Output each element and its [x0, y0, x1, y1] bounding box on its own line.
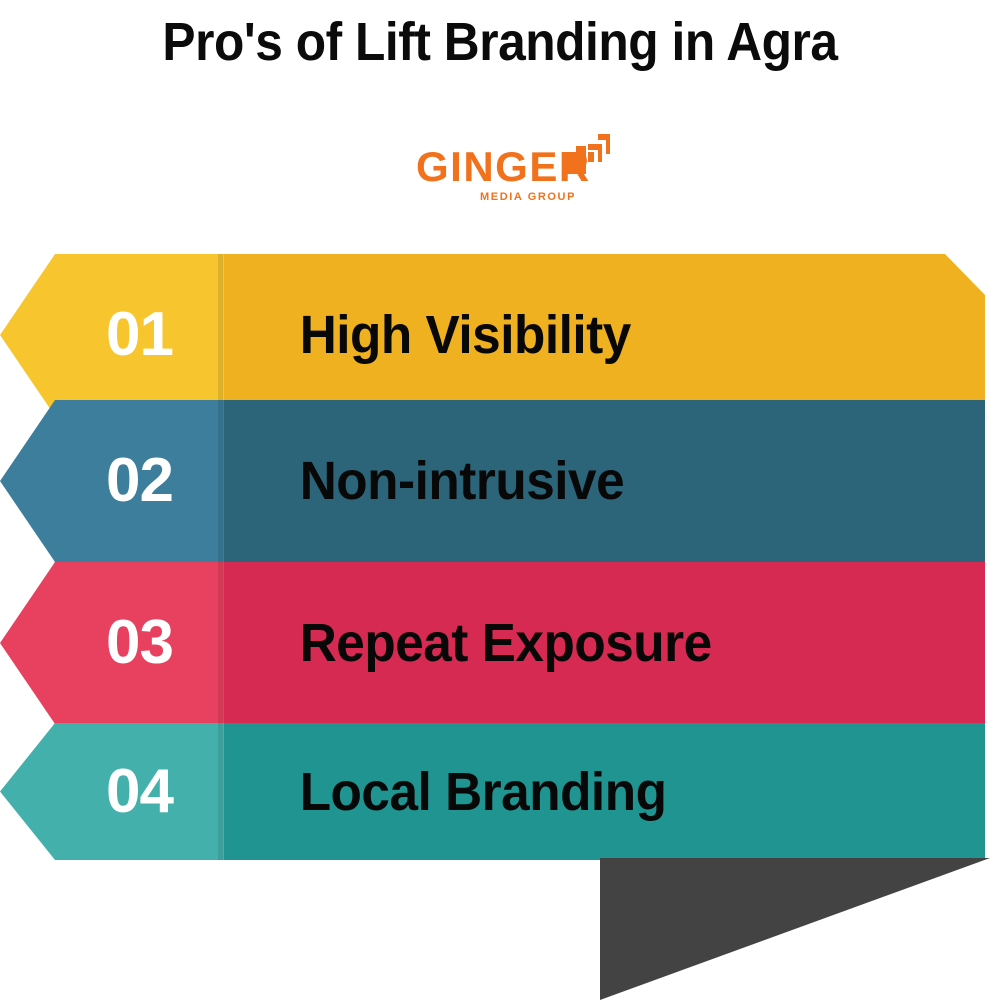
- list-item-number: 03: [55, 562, 224, 724]
- nested-corner-squares-icon: [560, 130, 612, 178]
- ribbon-fold-decoration: [600, 858, 990, 1000]
- list-item-label: Repeat Exposure: [218, 562, 947, 724]
- row-seam: [218, 562, 223, 724]
- list-item-number: 02: [55, 400, 224, 562]
- list-item-label: Local Branding: [218, 723, 947, 860]
- row-body: Local Branding: [218, 723, 985, 860]
- row-chevron: 03: [0, 562, 224, 724]
- row-seam: [218, 723, 223, 860]
- logo-tagline: MEDIA GROUP: [480, 192, 576, 203]
- row-seam: [218, 254, 223, 416]
- list-item[interactable]: Non-intrusive 02: [0, 400, 1000, 562]
- infographic-canvas: Pro's of Lift Branding in Agra GINGER ME…: [0, 0, 1000, 1000]
- row-body: Non-intrusive: [218, 400, 985, 562]
- list-item-label: Non-intrusive: [218, 400, 947, 562]
- list-item-number: 04: [55, 723, 224, 860]
- page-title: Pro's of Lift Branding in Agra: [40, 10, 960, 74]
- row-chevron: 02: [0, 400, 224, 562]
- list-item-number: 01: [55, 254, 224, 416]
- row-chevron: 01: [0, 254, 224, 416]
- row-body: High Visibility: [218, 254, 985, 416]
- list-item[interactable]: High Visibility 01: [0, 254, 1000, 416]
- row-seam: [218, 400, 223, 562]
- brand-logo: GINGER MEDIA GROUP: [408, 130, 618, 212]
- list-item-label: High Visibility: [218, 254, 947, 416]
- row-chevron: 04: [0, 723, 224, 860]
- row-body: Repeat Exposure: [218, 562, 985, 724]
- list-item[interactable]: Repeat Exposure 03: [0, 562, 1000, 724]
- list-item[interactable]: Local Branding 04: [0, 723, 1000, 860]
